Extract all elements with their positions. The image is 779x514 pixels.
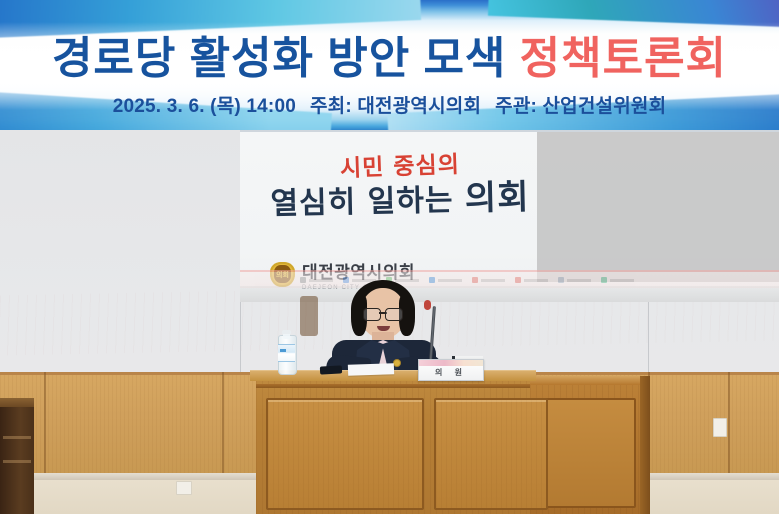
right-desk-panel — [535, 398, 636, 508]
banner-organizer: 주관: 산업건설위원회 — [495, 96, 666, 117]
floor-outlet-icon — [176, 481, 192, 495]
microphone-head-icon — [424, 300, 431, 310]
event-banner: 경로당 활성화 방안 모색 정책토론회 2025. 3. 6. (목) 14:0… — [0, 0, 779, 130]
right-desk-section — [530, 376, 650, 514]
desk-rail — [256, 384, 530, 388]
nameplate-color-strip — [419, 360, 483, 366]
screen-gray-area — [537, 132, 779, 282]
bottle-cap — [282, 330, 291, 334]
wall-outlet-icon — [713, 418, 727, 437]
right-desk-top-rail — [530, 376, 650, 385]
banner-title-accent: 정책토론회 — [520, 34, 727, 83]
emblem-label: 의회 — [276, 270, 289, 280]
bookmark-item — [601, 277, 634, 283]
furniture-groove — [3, 436, 31, 439]
document-papers — [348, 363, 394, 376]
desk-front-panel — [266, 398, 424, 510]
bookmark-item — [472, 277, 505, 283]
conference-photo-scene: 시민 중심의 열심히 일하는 의회 의회 대전광역시의회 DAEJEON CIT… — [0, 0, 779, 514]
nameplate: 의 원 — [418, 359, 484, 381]
banner-title-main: 경로당 활성화 방안 모색 — [52, 34, 520, 83]
furniture-top-edge — [0, 398, 34, 407]
bottle-label — [278, 344, 295, 362]
water-bottle — [278, 330, 295, 375]
bookmark-item — [515, 277, 548, 283]
banner-subtitle: 2025. 3. 6. (목) 14:00주최: 대전광역시의회주관: 산업건설… — [0, 91, 779, 118]
nameplate-text: 의 원 — [435, 367, 467, 380]
speaker-desk — [256, 374, 530, 514]
banner-title: 경로당 활성화 방안 모색 정책토론회 — [0, 22, 779, 86]
desk-front-panel — [434, 398, 548, 510]
wood-panel-seam — [222, 372, 224, 480]
eyeglasses-icon — [363, 308, 403, 319]
slogan-line-2a: 열심히 일하는 — [270, 183, 465, 222]
banner-date: 2025. 3. 6. (목) 14:00 — [113, 96, 296, 117]
lens-left — [363, 308, 381, 321]
wood-panel-seam — [44, 372, 46, 480]
mobile-phone — [320, 365, 342, 374]
furniture-groove — [3, 460, 31, 463]
council-slogan: 시민 중심의 열심히 일하는 의회 — [250, 156, 550, 219]
lapel-pin-icon — [394, 360, 400, 366]
bookmark-item — [558, 277, 591, 283]
wood-panel-seam — [728, 372, 730, 480]
slogan-line-2b: 의회 — [465, 177, 530, 218]
right-desk-edge — [640, 376, 650, 514]
left-wooden-furniture — [0, 398, 34, 514]
slogan-line-2: 열심히 일하는 의회 — [250, 180, 551, 222]
chair-back — [300, 296, 318, 336]
lens-right — [385, 308, 403, 321]
banner-host: 주최: 대전광역시의회 — [310, 96, 481, 117]
projection-screen: 시민 중심의 열심히 일하는 의회 의회 대전광역시의회 DAEJEON CIT… — [240, 130, 779, 302]
